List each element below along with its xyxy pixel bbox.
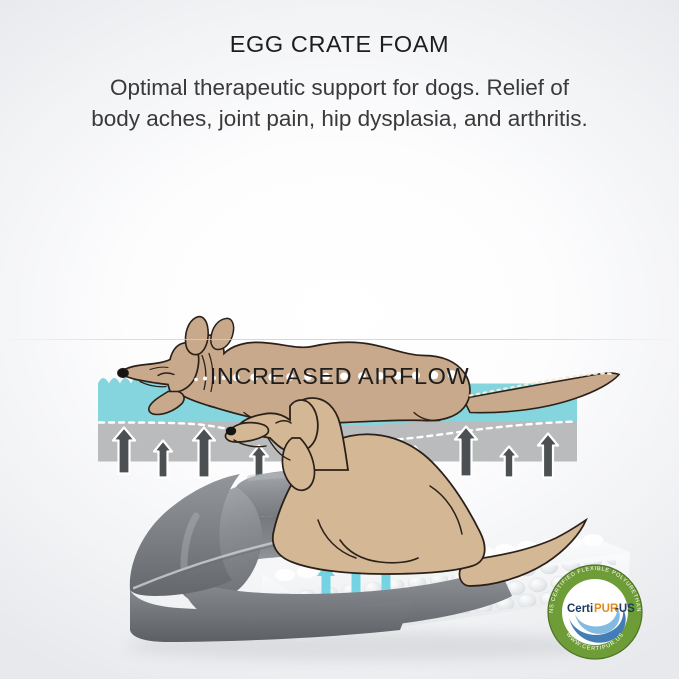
panel-increased-airflow: INCREASED AIRFLOW [0,340,679,679]
infographic-canvas: EGG CRATE FOAM Optimal therapeutic suppo… [0,0,679,679]
panel-egg-crate-foam: EGG CRATE FOAM Optimal therapeutic suppo… [0,0,679,340]
panel-bottom-heading: INCREASED AIRFLOW [0,363,679,390]
